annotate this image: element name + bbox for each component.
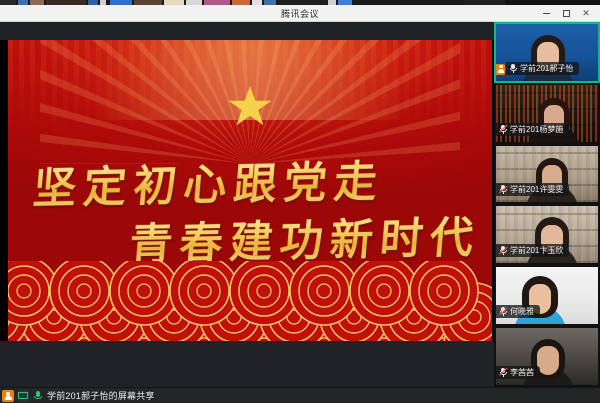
participant-name: 学前201卞玉欣 xyxy=(510,245,563,256)
participant-tile[interactable]: 学前201许雯雯 xyxy=(494,144,600,205)
title-bar[interactable]: 腾讯会议 ✕ xyxy=(0,5,600,22)
participant-name: 学前201郝子怡 xyxy=(520,63,573,74)
participant-tile[interactable]: 李茜茜 xyxy=(494,326,600,387)
participant-name-bar: 学前201郝子怡 xyxy=(506,62,579,75)
participant-name: 学前201杨梦施 xyxy=(510,124,563,135)
participant-strip[interactable]: 学前201郝子怡学前201杨梦施学前201许雯雯学前201卞玉欣何晓雅李茜茜 xyxy=(494,22,600,387)
microphone-muted-icon xyxy=(499,246,507,255)
active-speaker-icon xyxy=(496,64,505,75)
participant-face xyxy=(537,346,558,375)
participant-name-bar: 学前201卞玉欣 xyxy=(496,244,569,257)
minimize-icon xyxy=(543,13,550,14)
close-icon: ✕ xyxy=(582,9,590,18)
participant-tile[interactable]: 学前201杨梦施 xyxy=(494,83,600,144)
participant-tile[interactable]: 何晓雅 xyxy=(494,265,600,326)
participant-name-bar: 李茜茜 xyxy=(496,366,540,379)
participant-name-bar: 学前201杨梦施 xyxy=(496,123,569,136)
window-title: 腾讯会议 xyxy=(281,7,319,20)
participant-name-bar: 学前201许雯雯 xyxy=(496,183,569,196)
window-body: 坚定初心跟党走 青春建功新时代 热烈庆祝中国共青团成立一百周年 教育科学学院学前… xyxy=(0,22,600,387)
microphone-muted-icon xyxy=(499,307,507,316)
screen-share-icon xyxy=(17,390,29,402)
minimize-button[interactable] xyxy=(536,5,556,22)
participant-name: 李茜茜 xyxy=(510,367,534,378)
person-icon xyxy=(2,390,14,402)
maximize-button[interactable] xyxy=(556,5,576,22)
maximize-icon xyxy=(563,10,570,17)
microphone-muted-icon xyxy=(499,185,507,194)
tencent-meeting-window: 腾讯会议 ✕ 坚定初心跟党走 青春建功新时代 xyxy=(0,0,600,403)
wave-pattern-decoration xyxy=(8,261,492,341)
participant-tile[interactable]: 学前201卞玉欣 xyxy=(494,204,600,265)
participant-name: 学前201许雯雯 xyxy=(510,184,563,195)
screen-share-status-text: 学前201郝子怡的屏幕共享 xyxy=(47,389,155,402)
microphone-icon xyxy=(509,64,517,73)
shared-screen-stage[interactable]: 坚定初心跟党走 青春建功新时代 热烈庆祝中国共青团成立一百周年 教育科学学院学前… xyxy=(0,22,494,387)
window-controls: ✕ xyxy=(536,5,596,22)
microphone-muted-icon xyxy=(499,368,507,377)
presentation-slide: 坚定初心跟党走 青春建功新时代 热烈庆祝中国共青团成立一百周年 教育科学学院学前… xyxy=(8,40,492,341)
participant-tile[interactable]: 学前201郝子怡 xyxy=(494,22,600,83)
status-bar: 学前201郝子怡的屏幕共享 xyxy=(0,387,600,403)
microphone-icon xyxy=(32,390,44,402)
participant-name-bar: 何晓雅 xyxy=(496,305,540,318)
microphone-muted-icon xyxy=(499,125,507,134)
close-button[interactable]: ✕ xyxy=(576,5,596,22)
shared-screen-viewport: 坚定初心跟党走 青春建功新时代 热烈庆祝中国共青团成立一百周年 教育科学学院学前… xyxy=(0,40,494,341)
participant-name: 何晓雅 xyxy=(510,306,534,317)
app-window: 腾讯会议 ✕ 坚定初心跟党走 青春建功新时代 xyxy=(0,5,600,403)
